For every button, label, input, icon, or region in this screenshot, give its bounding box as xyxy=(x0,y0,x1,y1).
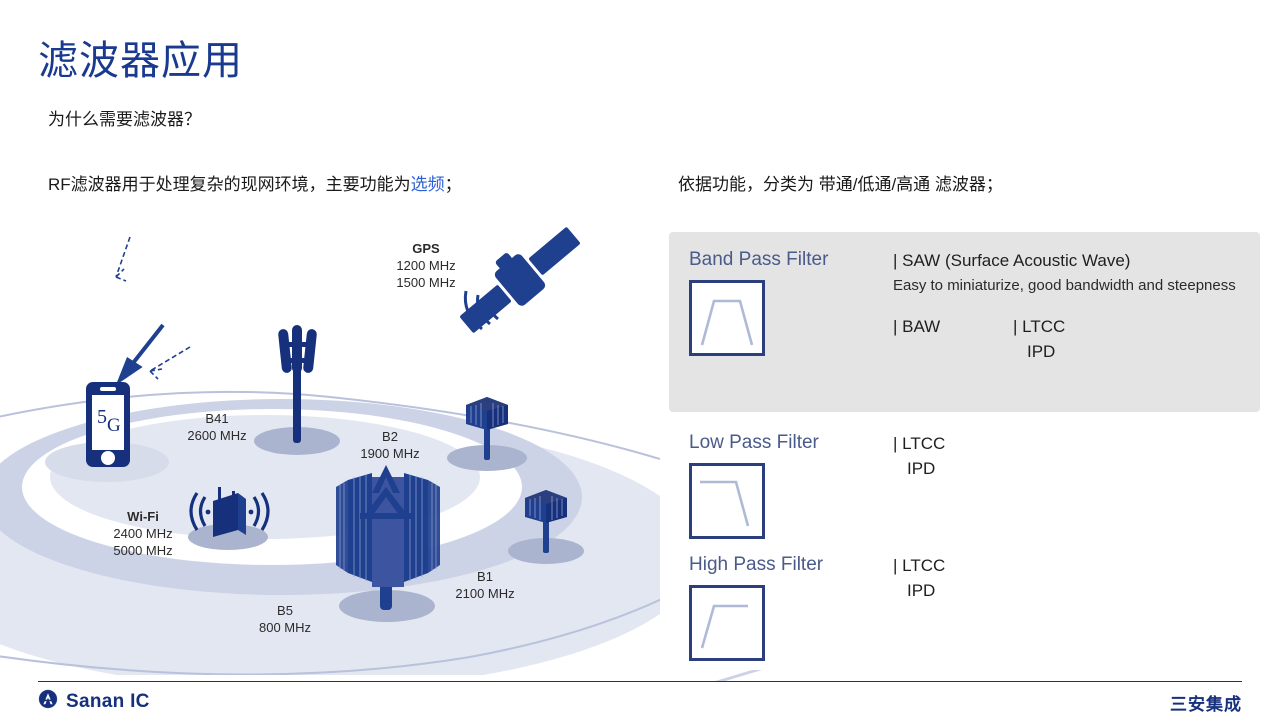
footer-divider xyxy=(38,681,1242,682)
filter-tech-saw: | SAW (Surface Acoustic Wave) xyxy=(893,248,1243,273)
label-wifi-name: Wi-Fi xyxy=(100,508,186,525)
filter-row-high-pass[interactable]: High Pass Filter xyxy=(689,553,823,661)
label-b1-name: B1 xyxy=(442,568,528,585)
footer-brand-cn: 三安集成 xyxy=(1170,690,1242,715)
dashed-arrow-1 xyxy=(116,237,130,281)
label-b41-freq-0: 2600 MHz xyxy=(174,427,260,444)
slide-root: 滤波器应用 为什么需要滤波器？ RF滤波器用于处理复杂的现网环境，主要功能为选频… xyxy=(0,0,1280,720)
solid-arrow xyxy=(120,325,163,380)
filter-desc-high-pass: | LTCC IPD xyxy=(893,553,1193,603)
lead-left-after: ； xyxy=(445,175,462,194)
footer-brand: Sanan IC xyxy=(38,689,150,714)
filter-note-saw: Easy to miniaturize, good bandwidth and … xyxy=(893,275,1243,296)
filter-col-ltcc-ipd: | LTCC IPD xyxy=(1013,314,1173,364)
label-b41-name: B41 xyxy=(174,410,260,427)
dashed-arrow-2 xyxy=(150,347,190,379)
low-pass-curve-icon xyxy=(689,463,765,539)
phone-5g-icon: 5 G xyxy=(86,382,130,467)
label-b2-freq-0: 1900 MHz xyxy=(347,445,433,462)
filter-hp-tech-ipd: IPD xyxy=(893,578,1193,603)
filter-row-low-pass[interactable]: Low Pass Filter xyxy=(689,431,819,539)
filter-tech-ipd: IPD xyxy=(1013,339,1173,364)
label-gps-freq-1: 1500 MHz xyxy=(383,274,469,291)
footer-brand-text: Sanan IC xyxy=(66,691,150,713)
label-b1-freq-0: 2100 MHz xyxy=(442,585,528,602)
high-pass-curve-icon xyxy=(689,585,765,661)
lead-left-before: RF滤波器用于处理复杂的现网环境，主要功能为 xyxy=(48,175,411,194)
label-gps-freq-0: 1200 MHz xyxy=(383,257,469,274)
filter-lp-tech-ltcc: | LTCC xyxy=(893,431,1193,456)
filter-lp-tech-ipd: IPD xyxy=(893,456,1193,481)
label-b2: B2 1900 MHz xyxy=(347,428,433,462)
label-gps-name: GPS xyxy=(383,240,469,257)
sanan-logo-icon xyxy=(38,689,58,714)
lead-left-highlight: 选频 xyxy=(411,175,445,194)
lead-text-right: 依据功能，分类为 带通/低通/高通 滤波器； xyxy=(678,173,1003,197)
label-b5: B5 800 MHz xyxy=(242,602,328,636)
label-wifi-freq-1: 5000 MHz xyxy=(100,542,186,559)
filter-name-band-pass: Band Pass Filter xyxy=(689,248,828,272)
label-b1: B1 2100 MHz xyxy=(442,568,528,602)
svg-text:5: 5 xyxy=(97,406,107,428)
filter-tech-ltcc: | LTCC xyxy=(1013,314,1173,339)
band-pass-curve-icon xyxy=(689,280,765,356)
subtitle-question: 为什么需要滤波器？ xyxy=(48,108,201,132)
rf-network-illustration: 5 G xyxy=(0,225,660,675)
lead-text-left: RF滤波器用于处理复杂的现网环境，主要功能为选频； xyxy=(48,173,462,197)
label-b2-name: B2 xyxy=(347,428,433,445)
page-title: 滤波器应用 xyxy=(38,38,243,84)
svg-text:G: G xyxy=(107,415,121,436)
label-b5-name: B5 xyxy=(242,602,328,619)
filter-hp-tech-ltcc: | LTCC xyxy=(893,553,1193,578)
filter-col-baw: | BAW xyxy=(893,314,1013,364)
filter-name-low-pass: Low Pass Filter xyxy=(689,431,819,455)
label-b41: B41 2600 MHz xyxy=(174,410,260,444)
filter-row-band-pass[interactable]: Band Pass Filter xyxy=(689,248,828,356)
label-b5-freq-0: 800 MHz xyxy=(242,619,328,636)
label-gps: GPS 1200 MHz 1500 MHz xyxy=(383,240,469,291)
label-wifi-freq-0: 2400 MHz xyxy=(100,525,186,542)
label-wifi: Wi-Fi 2400 MHz 5000 MHz xyxy=(100,508,186,559)
filter-tech-baw: | BAW xyxy=(893,314,1013,339)
filter-desc-band-pass: | SAW (Surface Acoustic Wave) Easy to mi… xyxy=(893,248,1243,364)
filter-name-high-pass: High Pass Filter xyxy=(689,553,823,577)
filter-desc-low-pass: | LTCC IPD xyxy=(893,431,1193,481)
